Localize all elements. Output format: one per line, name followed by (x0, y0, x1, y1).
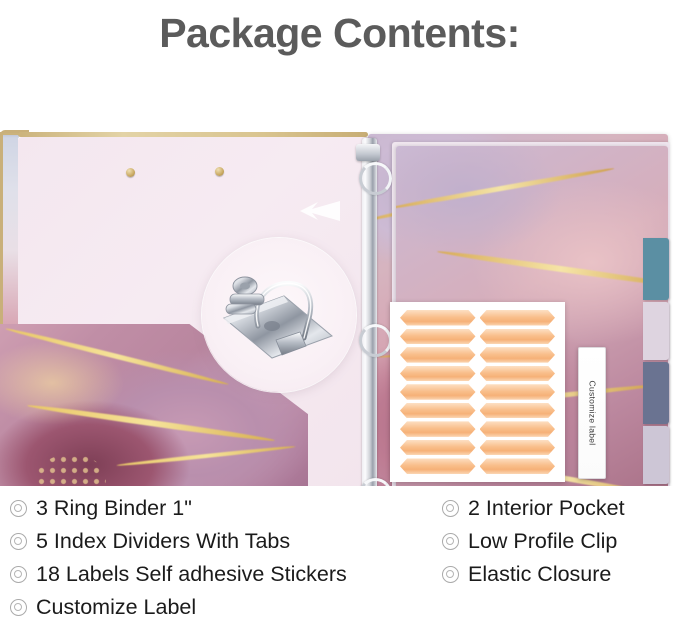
index-tab[interactable] (643, 302, 669, 360)
list-item-label: 2 Interior Pocket (468, 496, 625, 521)
list-item-label: Customize Label (36, 595, 196, 620)
list-item-label: 3 Ring Binder 1" (36, 496, 192, 521)
label-sticker (400, 403, 476, 419)
arrow-left-icon (296, 198, 342, 224)
list-item-label: 18 Labels Self adhesive Stickers (36, 562, 347, 587)
binder-left-inside-cover (18, 136, 368, 486)
label-sticker (480, 421, 556, 437)
label-sticker (480, 440, 556, 456)
label-sticker (480, 384, 556, 400)
label-sticker (400, 421, 476, 437)
label-sticker (400, 347, 476, 363)
customize-label-text: Customize label (587, 381, 597, 446)
rivet-icon (215, 167, 224, 176)
label-sticker (480, 310, 556, 326)
index-tab[interactable] (643, 362, 669, 424)
index-tab[interactable] (643, 238, 669, 300)
page-header: Package Contents: (0, 0, 679, 66)
bullet-circle-icon (442, 500, 459, 517)
list-item: Elastic Closure (442, 558, 679, 591)
binder-ring (359, 324, 392, 357)
clip-zoom-callout (202, 238, 356, 392)
bullet-circle-icon (10, 599, 27, 616)
list-item: Customize Label (10, 591, 442, 624)
bullet-circle-icon (10, 566, 27, 583)
label-sticker-sheet (390, 302, 565, 482)
marble-gold-vein (5, 326, 229, 386)
label-sticker (480, 366, 556, 382)
marble-gold-vein (116, 445, 295, 468)
label-sticker (400, 384, 476, 400)
list-item-label: 5 Index Dividers With Tabs (36, 529, 290, 554)
low-profile-clip-icon (214, 262, 340, 368)
list-item: 3 Ring Binder 1" (10, 492, 442, 525)
bullet-circle-icon (442, 566, 459, 583)
product-photo: Customize label (0, 66, 679, 486)
label-sticker (400, 458, 476, 474)
label-sticker (400, 440, 476, 456)
contents-list-right: 2 Interior Pocket Low Profile Clip Elast… (442, 492, 679, 591)
marble-gold-vein (396, 166, 615, 211)
package-contents-list: 3 Ring Binder 1" 5 Index Dividers With T… (0, 492, 679, 634)
list-item-label: Elastic Closure (468, 562, 611, 587)
contents-column-left: 3 Ring Binder 1" 5 Index Dividers With T… (0, 492, 442, 634)
marble-gold-vein (27, 403, 275, 444)
contents-column-right: 2 Interior Pocket Low Profile Clip Elast… (442, 492, 679, 634)
marble-gold-vein (437, 249, 668, 290)
list-item: 18 Labels Self adhesive Stickers (10, 558, 442, 591)
rivet-icon (126, 168, 135, 177)
bullet-circle-icon (442, 533, 459, 550)
label-sticker (400, 329, 476, 345)
list-item-label: Low Profile Clip (468, 529, 617, 554)
customize-label: Customize label (578, 347, 606, 479)
marble-gold-speckle (36, 454, 106, 486)
contents-list-left: 3 Ring Binder 1" 5 Index Dividers With T… (10, 492, 442, 624)
binder-ring (359, 162, 392, 195)
label-sticker (480, 347, 556, 363)
list-item: 5 Index Dividers With Tabs (10, 525, 442, 558)
index-tab[interactable] (643, 426, 669, 484)
bullet-circle-icon (10, 500, 27, 517)
label-sticker (480, 329, 556, 345)
bullet-circle-icon (10, 533, 27, 550)
label-sticker (400, 366, 476, 382)
page-title: Package Contents: (159, 10, 520, 57)
label-sticker (480, 458, 556, 474)
ring-lever[interactable] (356, 144, 380, 161)
list-item: 2 Interior Pocket (442, 492, 679, 525)
list-item: Low Profile Clip (442, 525, 679, 558)
label-sticker (400, 310, 476, 326)
label-sticker (480, 403, 556, 419)
sticker-grid (400, 310, 555, 474)
